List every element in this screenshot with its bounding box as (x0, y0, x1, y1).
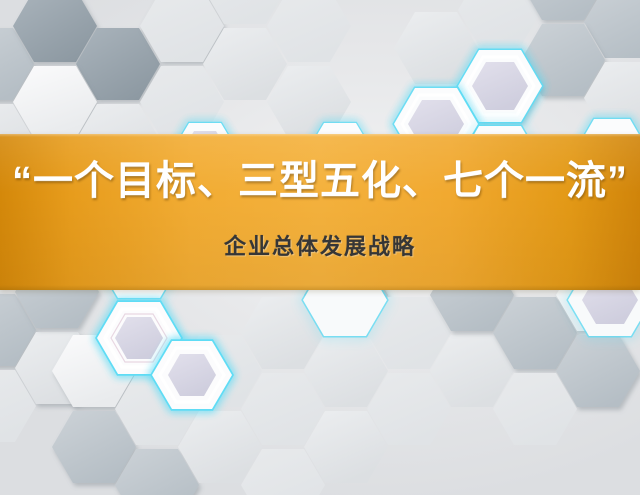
slide-title: “一个目标、三型五化、七个一流” (0, 156, 640, 206)
banner-top-sheen (0, 134, 640, 137)
banner-bottom-shade (0, 285, 640, 290)
title-slide: “一个目标、三型五化、七个一流” 企业总体发展战略 (0, 0, 640, 495)
slide-subtitle: 企业总体发展战略 (0, 232, 640, 262)
